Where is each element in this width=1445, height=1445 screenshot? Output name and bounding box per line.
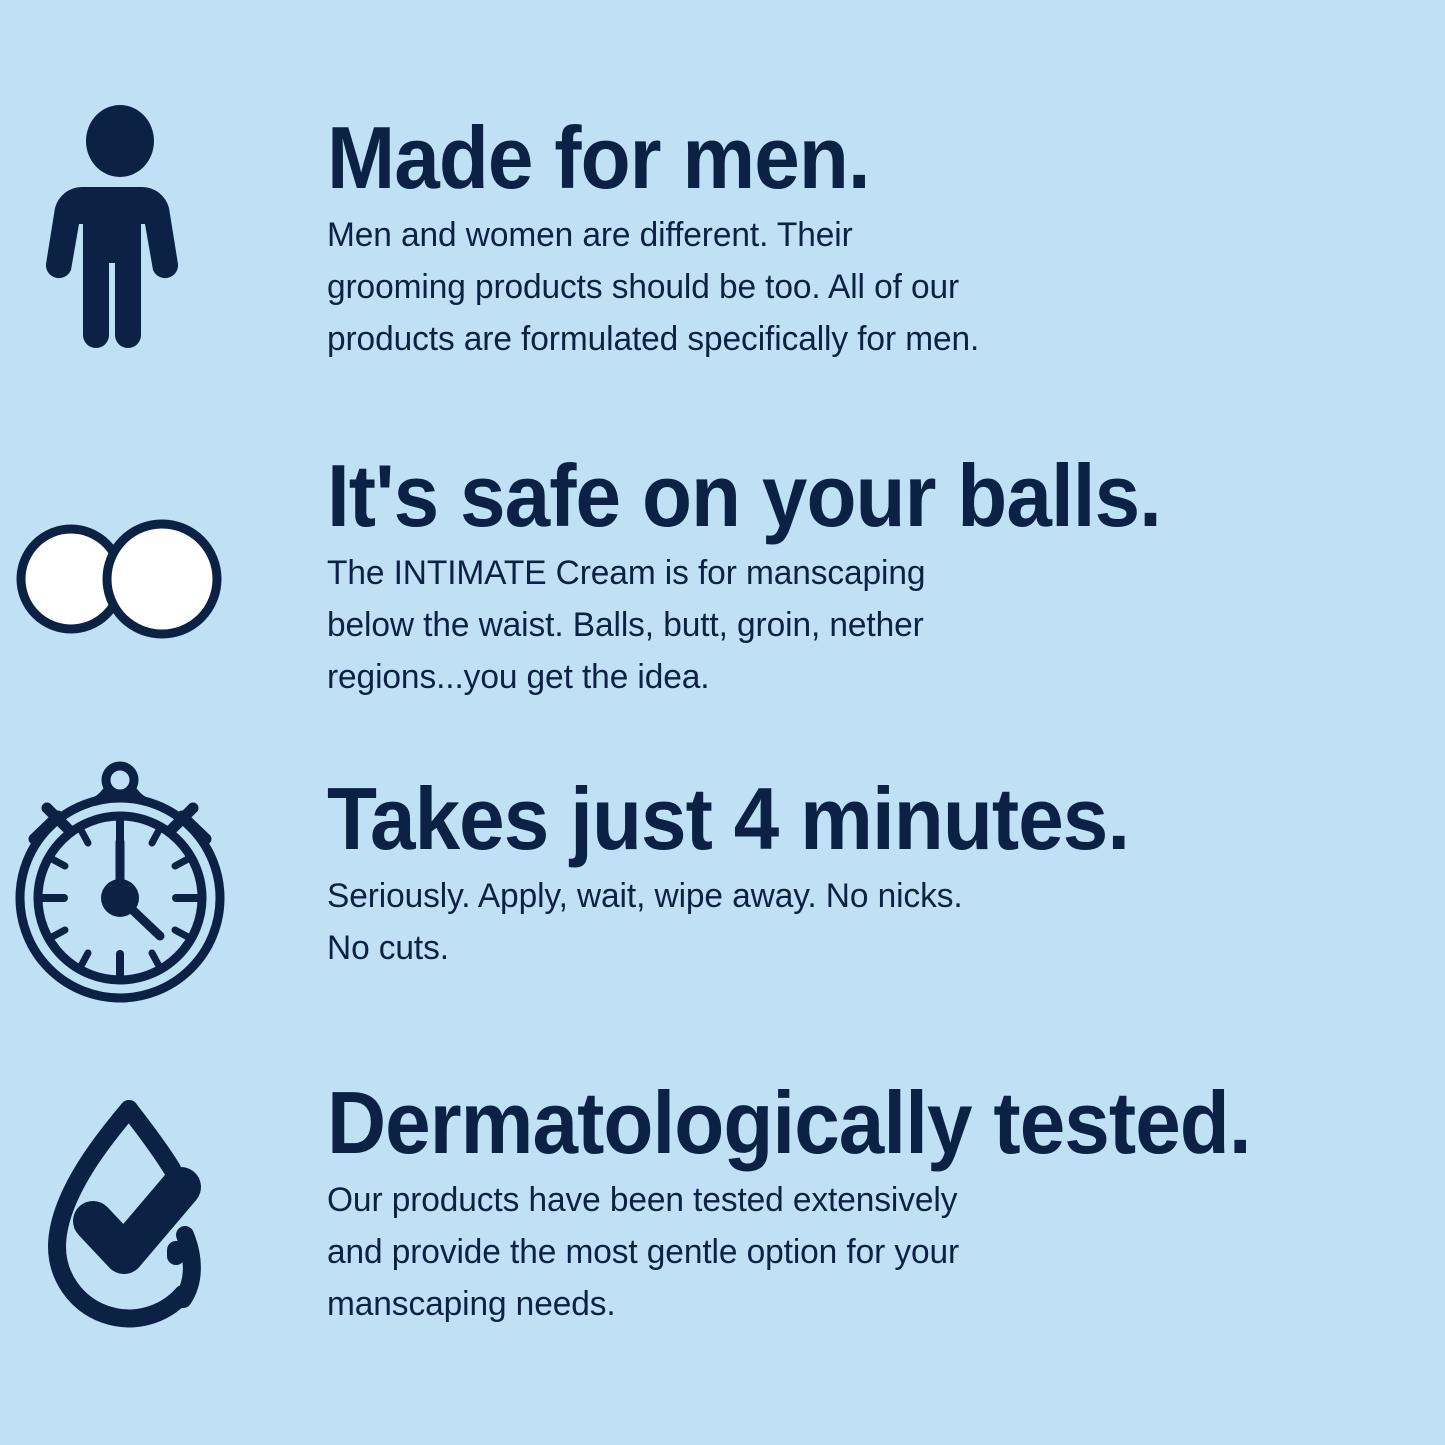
feature-text-dermatologically-tested: Dermatologically tested. Our products ha… [327,1083,1320,1330]
feature-headline: Takes just 4 minutes. [327,779,1129,860]
feature-text-takes-4-minutes: Takes just 4 minutes. Seriously. Apply, … [327,779,1190,974]
feature-body: The INTIMATE Cream is for manscaping bel… [327,547,1197,703]
feature-body: Our products have been tested extensivel… [327,1174,1290,1330]
feature-list-graphic: Made for men. Men and women are differen… [0,0,1445,1445]
stopwatch-icon [14,756,226,1008]
feature-headline: Dermatologically tested. [327,1083,1251,1164]
feature-body: Seriously. Apply, wait, wipe away. No ni… [327,870,1164,974]
feature-item-dermatologically-tested: Dermatologically tested. Our products ha… [0,0,1445,400]
droplet-check-icon [33,1095,218,1335]
two-overlapping-circles-icon [10,515,235,645]
feature-headline: It's safe on your balls. [327,456,1161,537]
feature-text-safe-on-balls: It's safe on your balls. The INTIMATE Cr… [327,456,1224,703]
